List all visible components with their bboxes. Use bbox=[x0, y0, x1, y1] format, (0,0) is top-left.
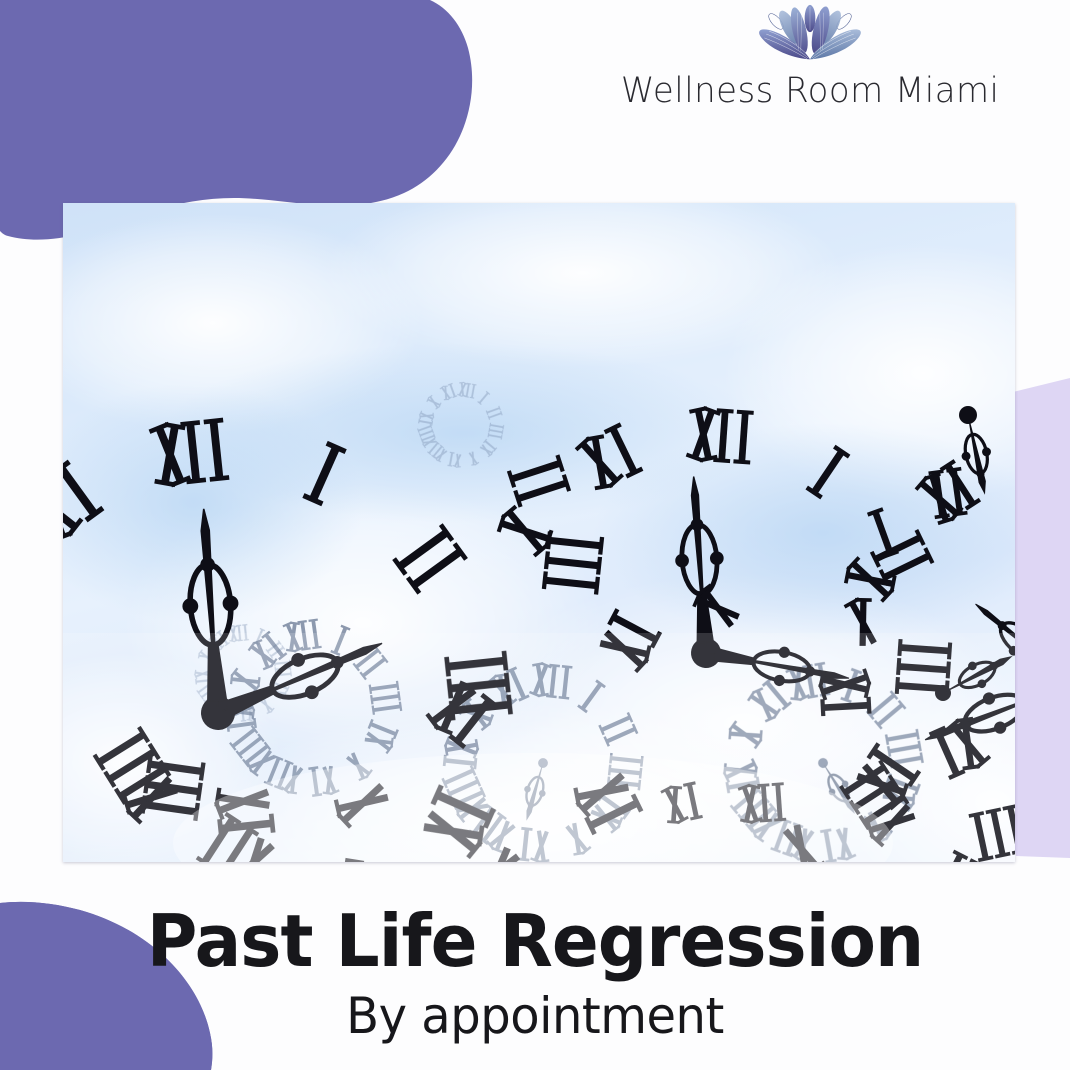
brand-logo: Wellness Room Miami bbox=[600, 0, 1020, 130]
page-title: Past Life Regression bbox=[21, 905, 1048, 977]
clock-faces-photo bbox=[63, 203, 1015, 862]
brand-name: Wellness Room Miami bbox=[621, 74, 1000, 109]
page-subtitle: By appointment bbox=[21, 991, 1048, 1041]
headline-block: Past Life Regression By appointment bbox=[0, 905, 1070, 1041]
right-lavender-panel bbox=[1013, 378, 1070, 858]
poster-canvas: Wellness Room Miami bbox=[0, 0, 1070, 1070]
lotus-fan-icon bbox=[735, 2, 885, 70]
